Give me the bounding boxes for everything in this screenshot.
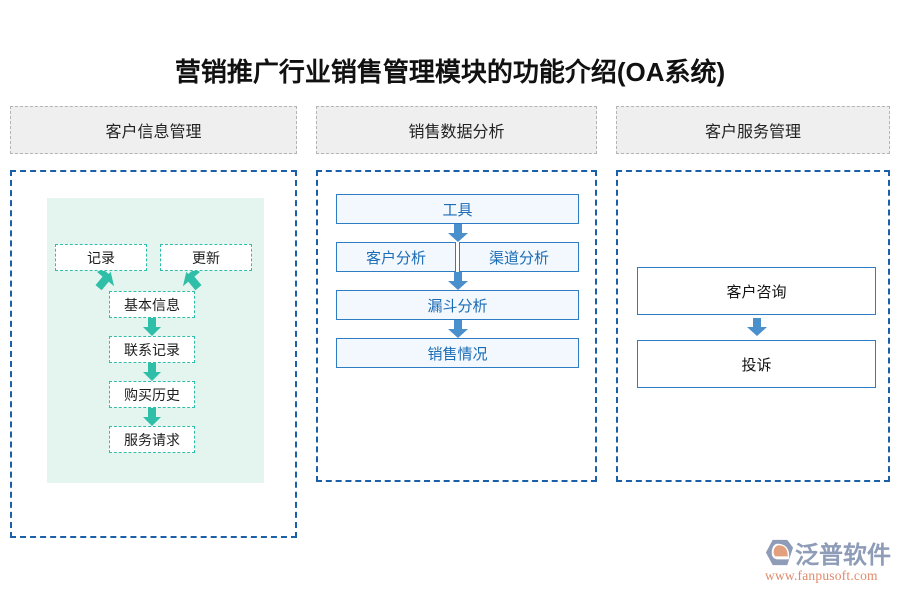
column-body-customer-info: 记录 更新 基本信息 联系记录 购买历史 服务请求	[10, 170, 297, 538]
node-sales-status[interactable]: 销售情况	[336, 338, 579, 368]
node-purchase-history[interactable]: 购买历史	[109, 381, 195, 408]
arrow-record-to-basic	[92, 270, 118, 292]
column-header-customer-service: 客户服务管理	[616, 106, 890, 154]
column-customer-service: 客户服务管理 客户咨询 投诉	[616, 106, 890, 482]
column-sales-analysis: 销售数据分析 工具 客户分析 渠道分析 漏斗分析 销售情况	[316, 106, 597, 482]
node-funnel-analysis[interactable]: 漏斗分析	[336, 290, 579, 320]
node-basic-info[interactable]: 基本信息	[109, 291, 195, 318]
arrow-basic-to-contact	[143, 318, 161, 336]
logo-name: 泛普软件	[795, 535, 891, 570]
arrow-tools-to-analysis	[448, 224, 468, 242]
logo-url: www.fanpusoft.com	[765, 568, 893, 584]
page-title: 营销推广行业销售管理模块的功能介绍(OA系统)	[0, 52, 900, 89]
column-body-customer-service: 客户咨询 投诉	[616, 170, 890, 482]
logo: 泛普软件 www.fanpusoft.com	[763, 536, 893, 588]
node-update[interactable]: 更新	[160, 244, 252, 271]
node-tools[interactable]: 工具	[336, 194, 579, 224]
node-complaint[interactable]: 投诉	[637, 340, 876, 388]
node-contact-record[interactable]: 联系记录	[109, 336, 195, 363]
node-customer-consult[interactable]: 客户咨询	[637, 267, 876, 315]
fanpu-hexagon-icon	[763, 537, 794, 568]
arrow-analysis-to-funnel	[448, 272, 468, 290]
node-service-request[interactable]: 服务请求	[109, 426, 195, 453]
arrow-contact-to-purchase	[143, 363, 161, 381]
column-customer-info: 客户信息管理 记录 更新 基本信息 联系记录 购买历史 服务请求	[10, 106, 297, 538]
node-record[interactable]: 记录	[55, 244, 147, 271]
arrow-update-to-basic	[179, 270, 205, 292]
node-customer-analysis[interactable]: 客户分析	[336, 242, 456, 272]
arrow-purchase-to-service	[143, 408, 161, 426]
column-body-sales-analysis: 工具 客户分析 渠道分析 漏斗分析 销售情况	[316, 170, 597, 482]
column-header-customer-info: 客户信息管理	[10, 106, 297, 154]
arrow-funnel-to-sales	[448, 320, 468, 338]
node-channel-analysis[interactable]: 渠道分析	[459, 242, 579, 272]
column-header-sales-analysis: 销售数据分析	[316, 106, 597, 154]
arrow-consult-to-complaint	[747, 318, 767, 336]
